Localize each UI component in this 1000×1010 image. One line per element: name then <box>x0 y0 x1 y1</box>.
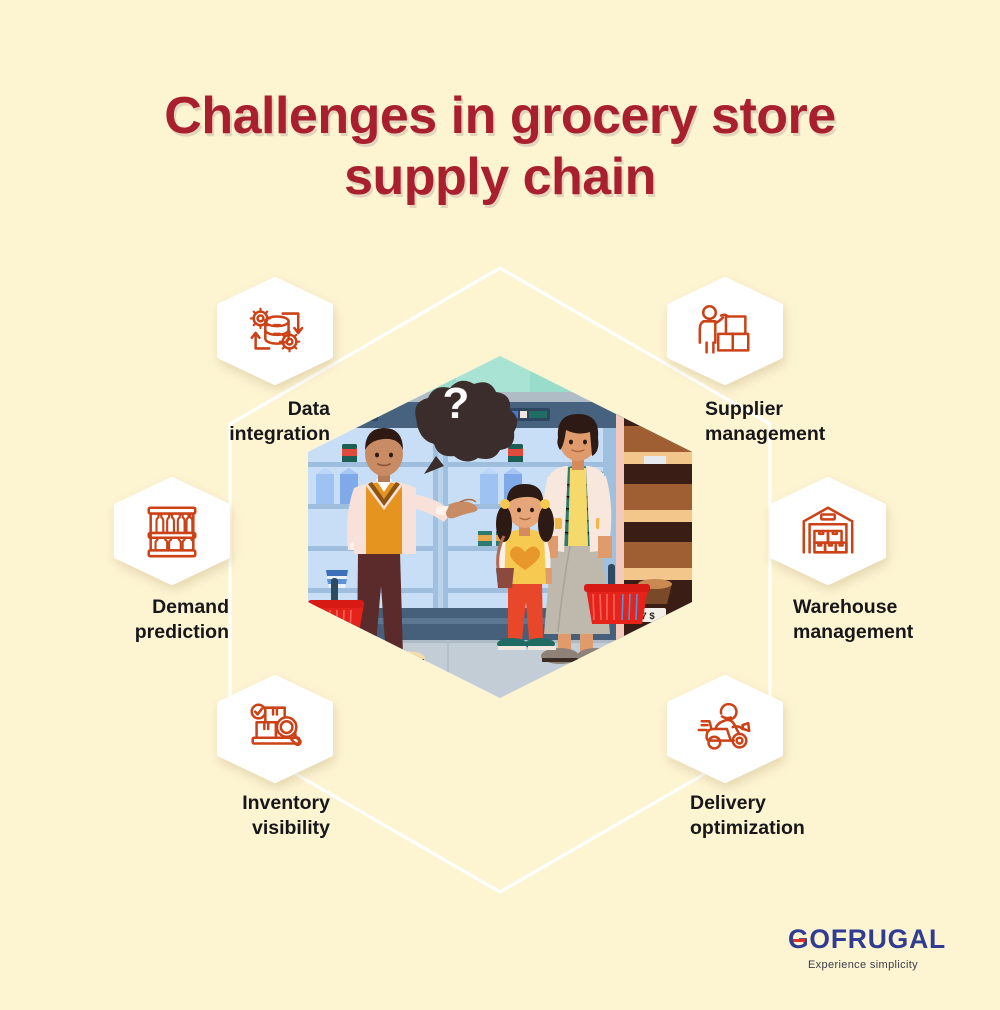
brand-logo: GOFRUGAL Experience simplicity <box>788 926 938 971</box>
delivery-scooter-icon <box>694 698 756 760</box>
node-label-demand-prediction: Demand prediction <box>0 595 229 645</box>
shopping-basket-left <box>308 600 364 638</box>
infographic-canvas: Challenges in grocery store supply chain <box>0 0 1000 1010</box>
shopping-basket-right <box>584 584 650 624</box>
logo-text: GOFRUGAL <box>788 924 946 954</box>
person-stacking-boxes-icon <box>694 300 756 362</box>
hexagon-badge[interactable] <box>215 675 335 783</box>
node-delivery-optimization[interactable]: Delivery optimization <box>665 675 785 783</box>
hexagon-badge[interactable] <box>215 277 335 385</box>
node-label-inventory-visibility: Inventory visibility <box>100 791 330 841</box>
node-label-warehouse-management: Warehouse management <box>793 595 1000 645</box>
logo-wordmark: GOFRUGAL <box>788 926 946 953</box>
node-label-data-integration: Data integration <box>100 397 330 447</box>
hexagon-badge[interactable] <box>665 675 785 783</box>
store-shelf-bottles-icon <box>141 500 203 562</box>
logo-tagline: Experience simplicity <box>788 959 938 971</box>
node-supplier-management[interactable]: Supplier management <box>665 277 785 385</box>
node-inventory-visibility[interactable]: Inventory visibility <box>215 675 335 783</box>
hexagon-badge[interactable] <box>665 277 785 385</box>
node-warehouse-management[interactable]: Warehouse management <box>768 477 888 585</box>
hexagon-badge[interactable] <box>768 477 888 585</box>
boxes-magnifier-check-icon <box>244 698 306 760</box>
node-label-delivery-optimization: Delivery optimization <box>690 791 920 841</box>
node-demand-prediction[interactable]: Demand prediction <box>112 477 232 585</box>
node-data-integration[interactable]: Data integration <box>215 277 335 385</box>
node-label-supplier-management: Supplier management <box>705 397 935 447</box>
grocery-store-illustration: 7 $ <box>308 356 692 698</box>
gears-database-sync-icon <box>244 300 306 362</box>
hexagon-badge[interactable] <box>112 477 232 585</box>
question-mark: ? <box>443 379 470 428</box>
warehouse-building-boxes-icon <box>797 500 859 562</box>
logo-dash-accent <box>793 939 805 942</box>
